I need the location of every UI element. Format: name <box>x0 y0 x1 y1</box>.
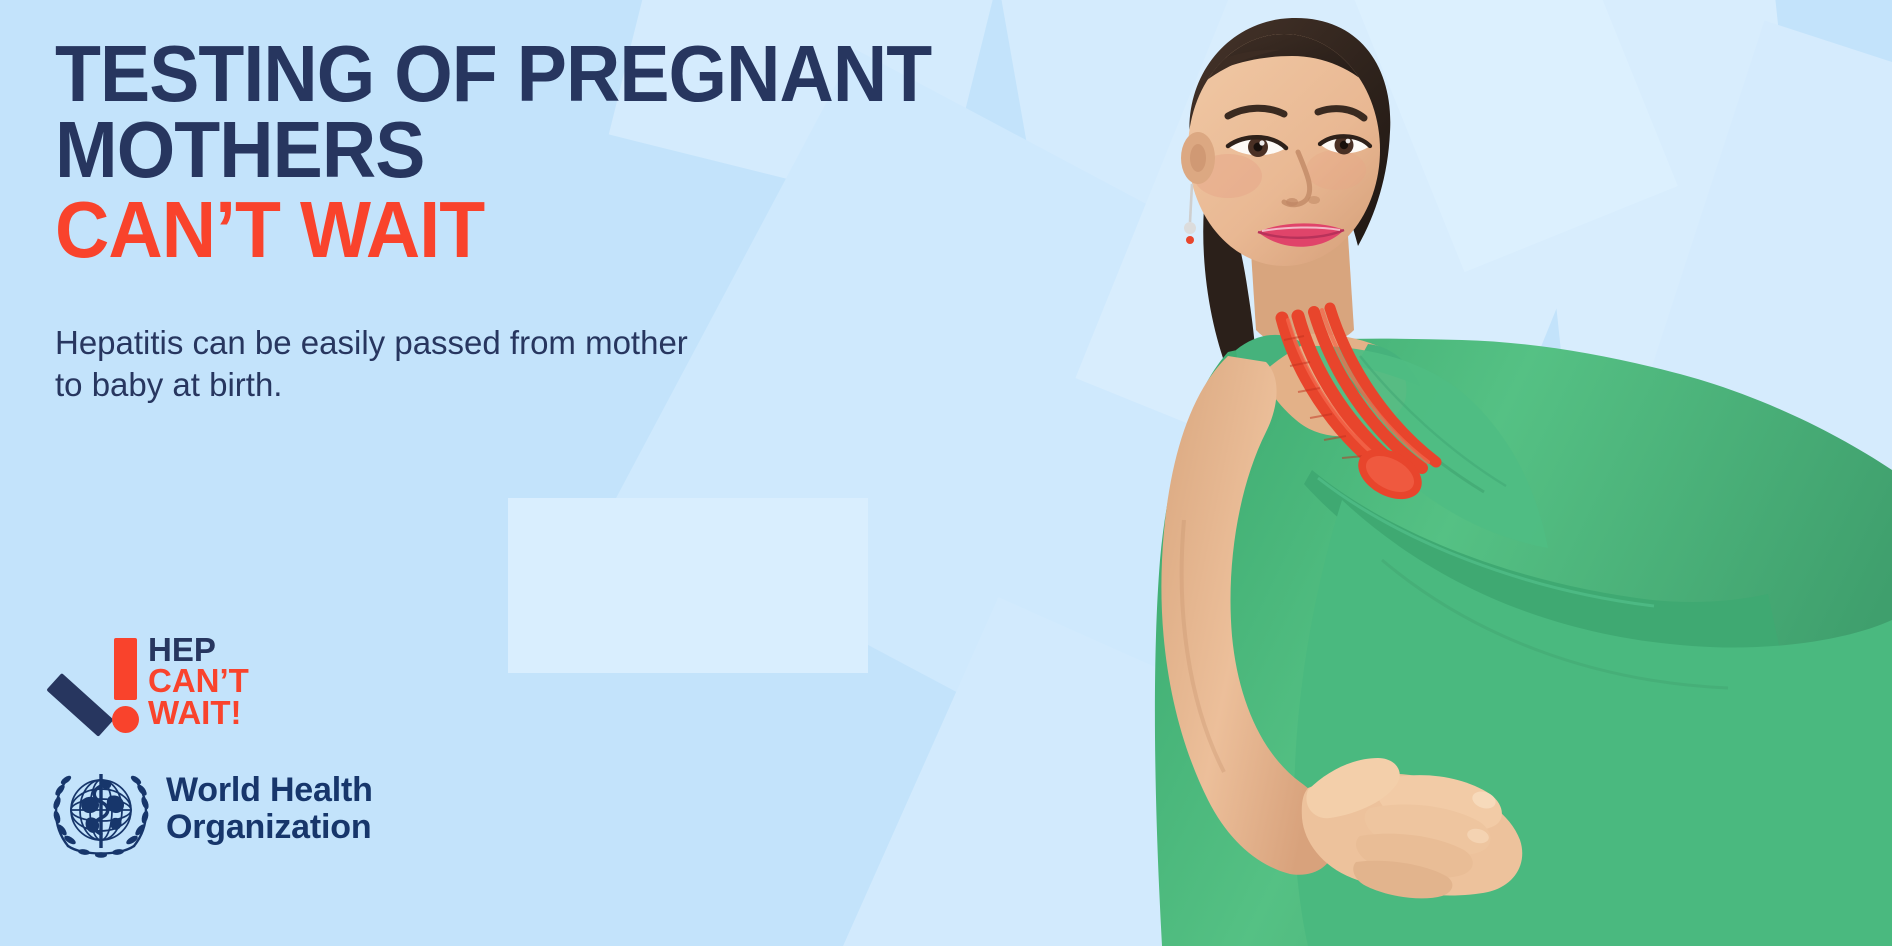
hep-logo-line3: WAIT! <box>148 697 249 728</box>
who-wordmark: World Health Organization <box>166 772 373 845</box>
photo-pregnant-woman <box>1132 0 1892 946</box>
hep-cant-wait-wordmark: HEP CAN’T WAIT! <box>148 634 249 728</box>
who-emblem-icon <box>48 760 154 866</box>
headline: TESTING OF PREGNANT MOTHERS CAN’T WAIT <box>55 36 1108 268</box>
hep-logo-line2: CAN’T <box>148 665 249 696</box>
hep-cant-wait-logo: HEP CAN’T WAIT! <box>52 636 352 746</box>
headline-line3-cant-wait: CAN’T WAIT <box>55 192 1108 268</box>
subtitle-line2: to baby at birth. <box>55 364 815 406</box>
who-line2: Organization <box>166 809 373 846</box>
subtitle-line1: Hepatitis can be easily passed from moth… <box>55 322 815 364</box>
exclamation-dot-icon <box>112 706 139 733</box>
slash-icon <box>46 673 113 737</box>
bg-shape <box>508 498 868 673</box>
who-logo: World Health Organization <box>48 760 378 880</box>
campaign-banner: TESTING OF PREGNANT MOTHERS CAN’T WAIT H… <box>0 0 1892 946</box>
exclamation-bar-icon <box>114 638 137 700</box>
subtitle: Hepatitis can be easily passed from moth… <box>55 322 815 406</box>
headline-line2: MOTHERS <box>55 105 424 194</box>
who-line1: World Health <box>166 772 373 809</box>
hep-logo-line1: HEP <box>148 634 249 665</box>
exclamation-mark-icon <box>52 636 138 732</box>
